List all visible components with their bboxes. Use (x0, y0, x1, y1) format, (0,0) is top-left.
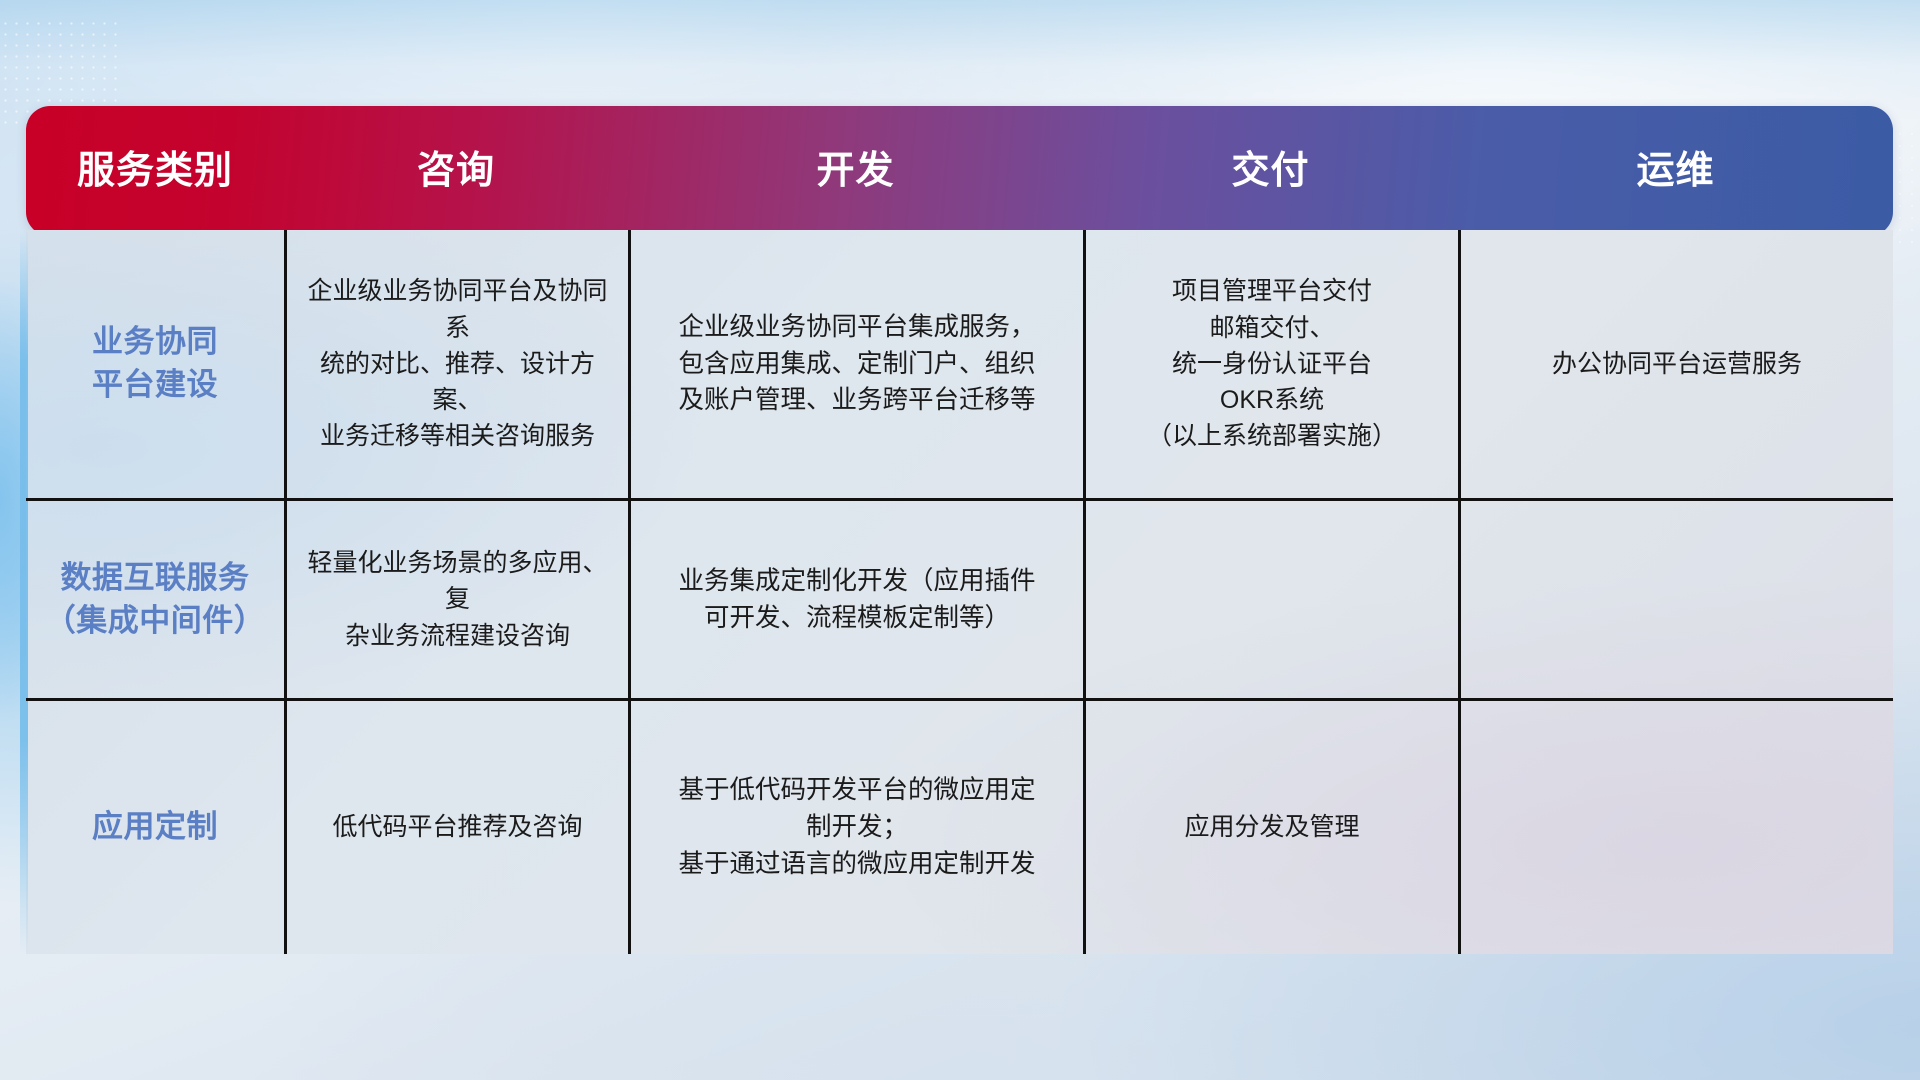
column-header-category: 服务类别 (26, 152, 284, 190)
cell-text: 项目管理平台交付 邮箱交付、 统一身份认证平台 OKR系统 （以上系统部署实施） (1147, 273, 1397, 454)
cell-development: 业务集成定制化开发（应用插件 可开发、流程模板定制等） (628, 501, 1083, 698)
background-top-sheen (0, 0, 1920, 120)
table-row: 应用定制 低代码平台推荐及咨询 基于低代码开发平台的微应用定 制开发； 基于通过… (26, 698, 1893, 954)
cell-text: 企业级业务协同平台及协同系 统的对比、推荐、设计方案、 业务迁移等相关咨询服务 (301, 273, 614, 454)
cell-consulting: 企业级业务协同平台及协同系 统的对比、推荐、设计方案、 业务迁移等相关咨询服务 (284, 230, 628, 498)
cell-consulting: 低代码平台推荐及咨询 (284, 701, 628, 954)
service-matrix-table: 服务类别 咨询 开发 交付 运维 业务协同 平台建设 企业级业务协同平台及协同系… (26, 106, 1893, 954)
cell-text: 企业级业务协同平台集成服务， 包含应用集成、定制门户、组织 及账户管理、业务跨平… (678, 309, 1035, 420)
table-header-row: 服务类别 咨询 开发 交付 运维 (26, 106, 1893, 236)
row-label: 应用定制 (92, 806, 218, 849)
table-body: 业务协同 平台建设 企业级业务协同平台及协同系 统的对比、推荐、设计方案、 业务… (26, 230, 1893, 954)
cell-text: 低代码平台推荐及咨询 (332, 809, 582, 845)
cell-operations: 办公协同平台运营服务 (1458, 230, 1893, 498)
column-header-development: 开发 (628, 152, 1083, 190)
cell-text: 轻量化业务场景的多应用、复 杂业务流程建设咨询 (301, 545, 614, 654)
cell-text: 基于低代码开发平台的微应用定 制开发； 基于通过语言的微应用定制开发 (678, 772, 1035, 883)
table-row: 业务协同 平台建设 企业级业务协同平台及协同系 统的对比、推荐、设计方案、 业务… (26, 230, 1893, 498)
cell-development: 基于低代码开发平台的微应用定 制开发； 基于通过语言的微应用定制开发 (628, 701, 1083, 954)
cell-text: 办公协同平台运营服务 (1552, 346, 1802, 382)
row-label-cell: 数据互联服务 （集成中间件） (26, 501, 284, 698)
table-row: 数据互联服务 （集成中间件） 轻量化业务场景的多应用、复 杂业务流程建设咨询 业… (26, 498, 1893, 698)
row-label: 业务协同 平台建设 (92, 321, 218, 407)
cell-delivery (1083, 501, 1458, 698)
column-header-consulting: 咨询 (284, 152, 628, 190)
cell-text: 业务集成定制化开发（应用插件 可开发、流程模板定制等） (678, 563, 1035, 637)
row-label-cell: 业务协同 平台建设 (26, 230, 284, 498)
cell-operations (1458, 501, 1893, 698)
cell-delivery: 应用分发及管理 (1083, 701, 1458, 954)
cell-operations (1458, 701, 1893, 954)
column-header-operations: 运维 (1458, 152, 1893, 190)
row-label-cell: 应用定制 (26, 701, 284, 954)
cell-delivery: 项目管理平台交付 邮箱交付、 统一身份认证平台 OKR系统 （以上系统部署实施） (1083, 230, 1458, 498)
cell-text: 应用分发及管理 (1184, 809, 1359, 845)
cell-development: 企业级业务协同平台集成服务， 包含应用集成、定制门户、组织 及账户管理、业务跨平… (628, 230, 1083, 498)
column-header-delivery: 交付 (1083, 152, 1458, 190)
row-label: 数据互联服务 （集成中间件） (45, 557, 266, 643)
cell-consulting: 轻量化业务场景的多应用、复 杂业务流程建设咨询 (284, 501, 628, 698)
